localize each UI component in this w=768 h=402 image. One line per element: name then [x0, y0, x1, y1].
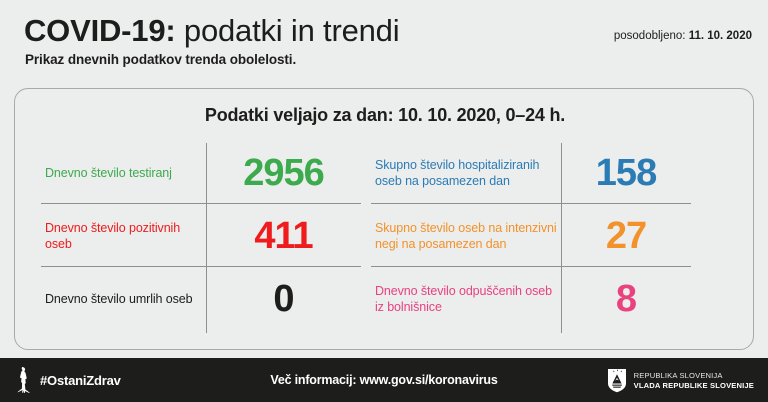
stats-column-left: Dnevno število testiranj 2956 Dnevno šte… — [41, 141, 391, 339]
stats-column-right: Skupno število hospitaliziranih oseb na … — [371, 141, 721, 339]
stat-value: 0 — [206, 279, 361, 319]
stat-row-intensive-care: Skupno število oseb na intenzivni negi n… — [371, 204, 721, 267]
card-heading: Podatki veljajo za dan: 10. 10. 2020, 0–… — [15, 105, 755, 126]
page-subtitle: Prikaz dnevnih podatkov trenda obolelost… — [25, 52, 296, 67]
stat-label: Dnevno število odpuščenih oseb iz bolniš… — [375, 283, 563, 315]
stat-label: Skupno število oseb na intenzivni negi n… — [375, 220, 563, 252]
stat-row-hospitalized: Skupno število hospitaliziranih oseb na … — [371, 141, 721, 204]
header: COVID-19: podatki in trendi Prikaz dnevn… — [0, 0, 768, 88]
stat-label: Dnevno število umrlih oseb — [45, 291, 205, 307]
page-title-rest: podatki in trendi — [176, 13, 400, 48]
footer: #OstaniZdrav Več informacij: www.gov.si/… — [0, 358, 768, 402]
page-title-strong: COVID-19: — [24, 13, 176, 48]
stats-card: Podatki veljajo za dan: 10. 10. 2020, 0–… — [14, 88, 754, 350]
stat-label: Dnevno število pozitivnih oseb — [45, 220, 205, 252]
stat-value: 8 — [561, 279, 691, 319]
stat-value: 2956 — [206, 153, 361, 193]
stat-label: Dnevno število testiranj — [45, 165, 205, 181]
hashtag-group: #OstaniZdrav — [16, 358, 121, 402]
gov-line-government: VLADA REPUBLIKE SLOVENIJE — [634, 381, 754, 390]
more-info-text: Več informacij: www.gov.si/koronavirus — [270, 358, 497, 402]
slovenia-coat-of-arms-icon — [607, 368, 627, 393]
gov-line-republic: REPUBLIKA SLOVENIJA — [634, 371, 754, 380]
government-text-lines: REPUBLIKA SLOVENIJA VLADA REPUBLIKE SLOV… — [634, 371, 754, 390]
stat-label: Skupno število hospitaliziranih oseb na … — [375, 157, 563, 189]
stat-value: 411 — [206, 216, 361, 256]
stat-value: 27 — [561, 216, 691, 256]
last-updated: posodobljeno: 11. 10. 2020 — [614, 30, 752, 42]
person-silhouette-icon — [16, 367, 32, 393]
stat-row-discharged: Dnevno število odpuščenih oseb iz bolniš… — [371, 267, 721, 330]
stat-value: 158 — [561, 153, 691, 193]
government-branding: REPUBLIKA SLOVENIJA VLADA REPUBLIKE SLOV… — [607, 358, 754, 402]
stat-row-daily-tests: Dnevno število testiranj 2956 — [41, 141, 391, 204]
page-title: COVID-19: podatki in trendi — [24, 12, 399, 50]
last-updated-label: posodobljeno: — [614, 30, 686, 42]
stat-row-daily-deaths: Dnevno število umrlih oseb 0 — [41, 267, 391, 330]
hashtag-text: #OstaniZdrav — [40, 373, 121, 388]
stat-row-daily-positive: Dnevno število pozitivnih oseb 411 — [41, 204, 391, 267]
last-updated-date: 11. 10. 2020 — [689, 30, 752, 42]
